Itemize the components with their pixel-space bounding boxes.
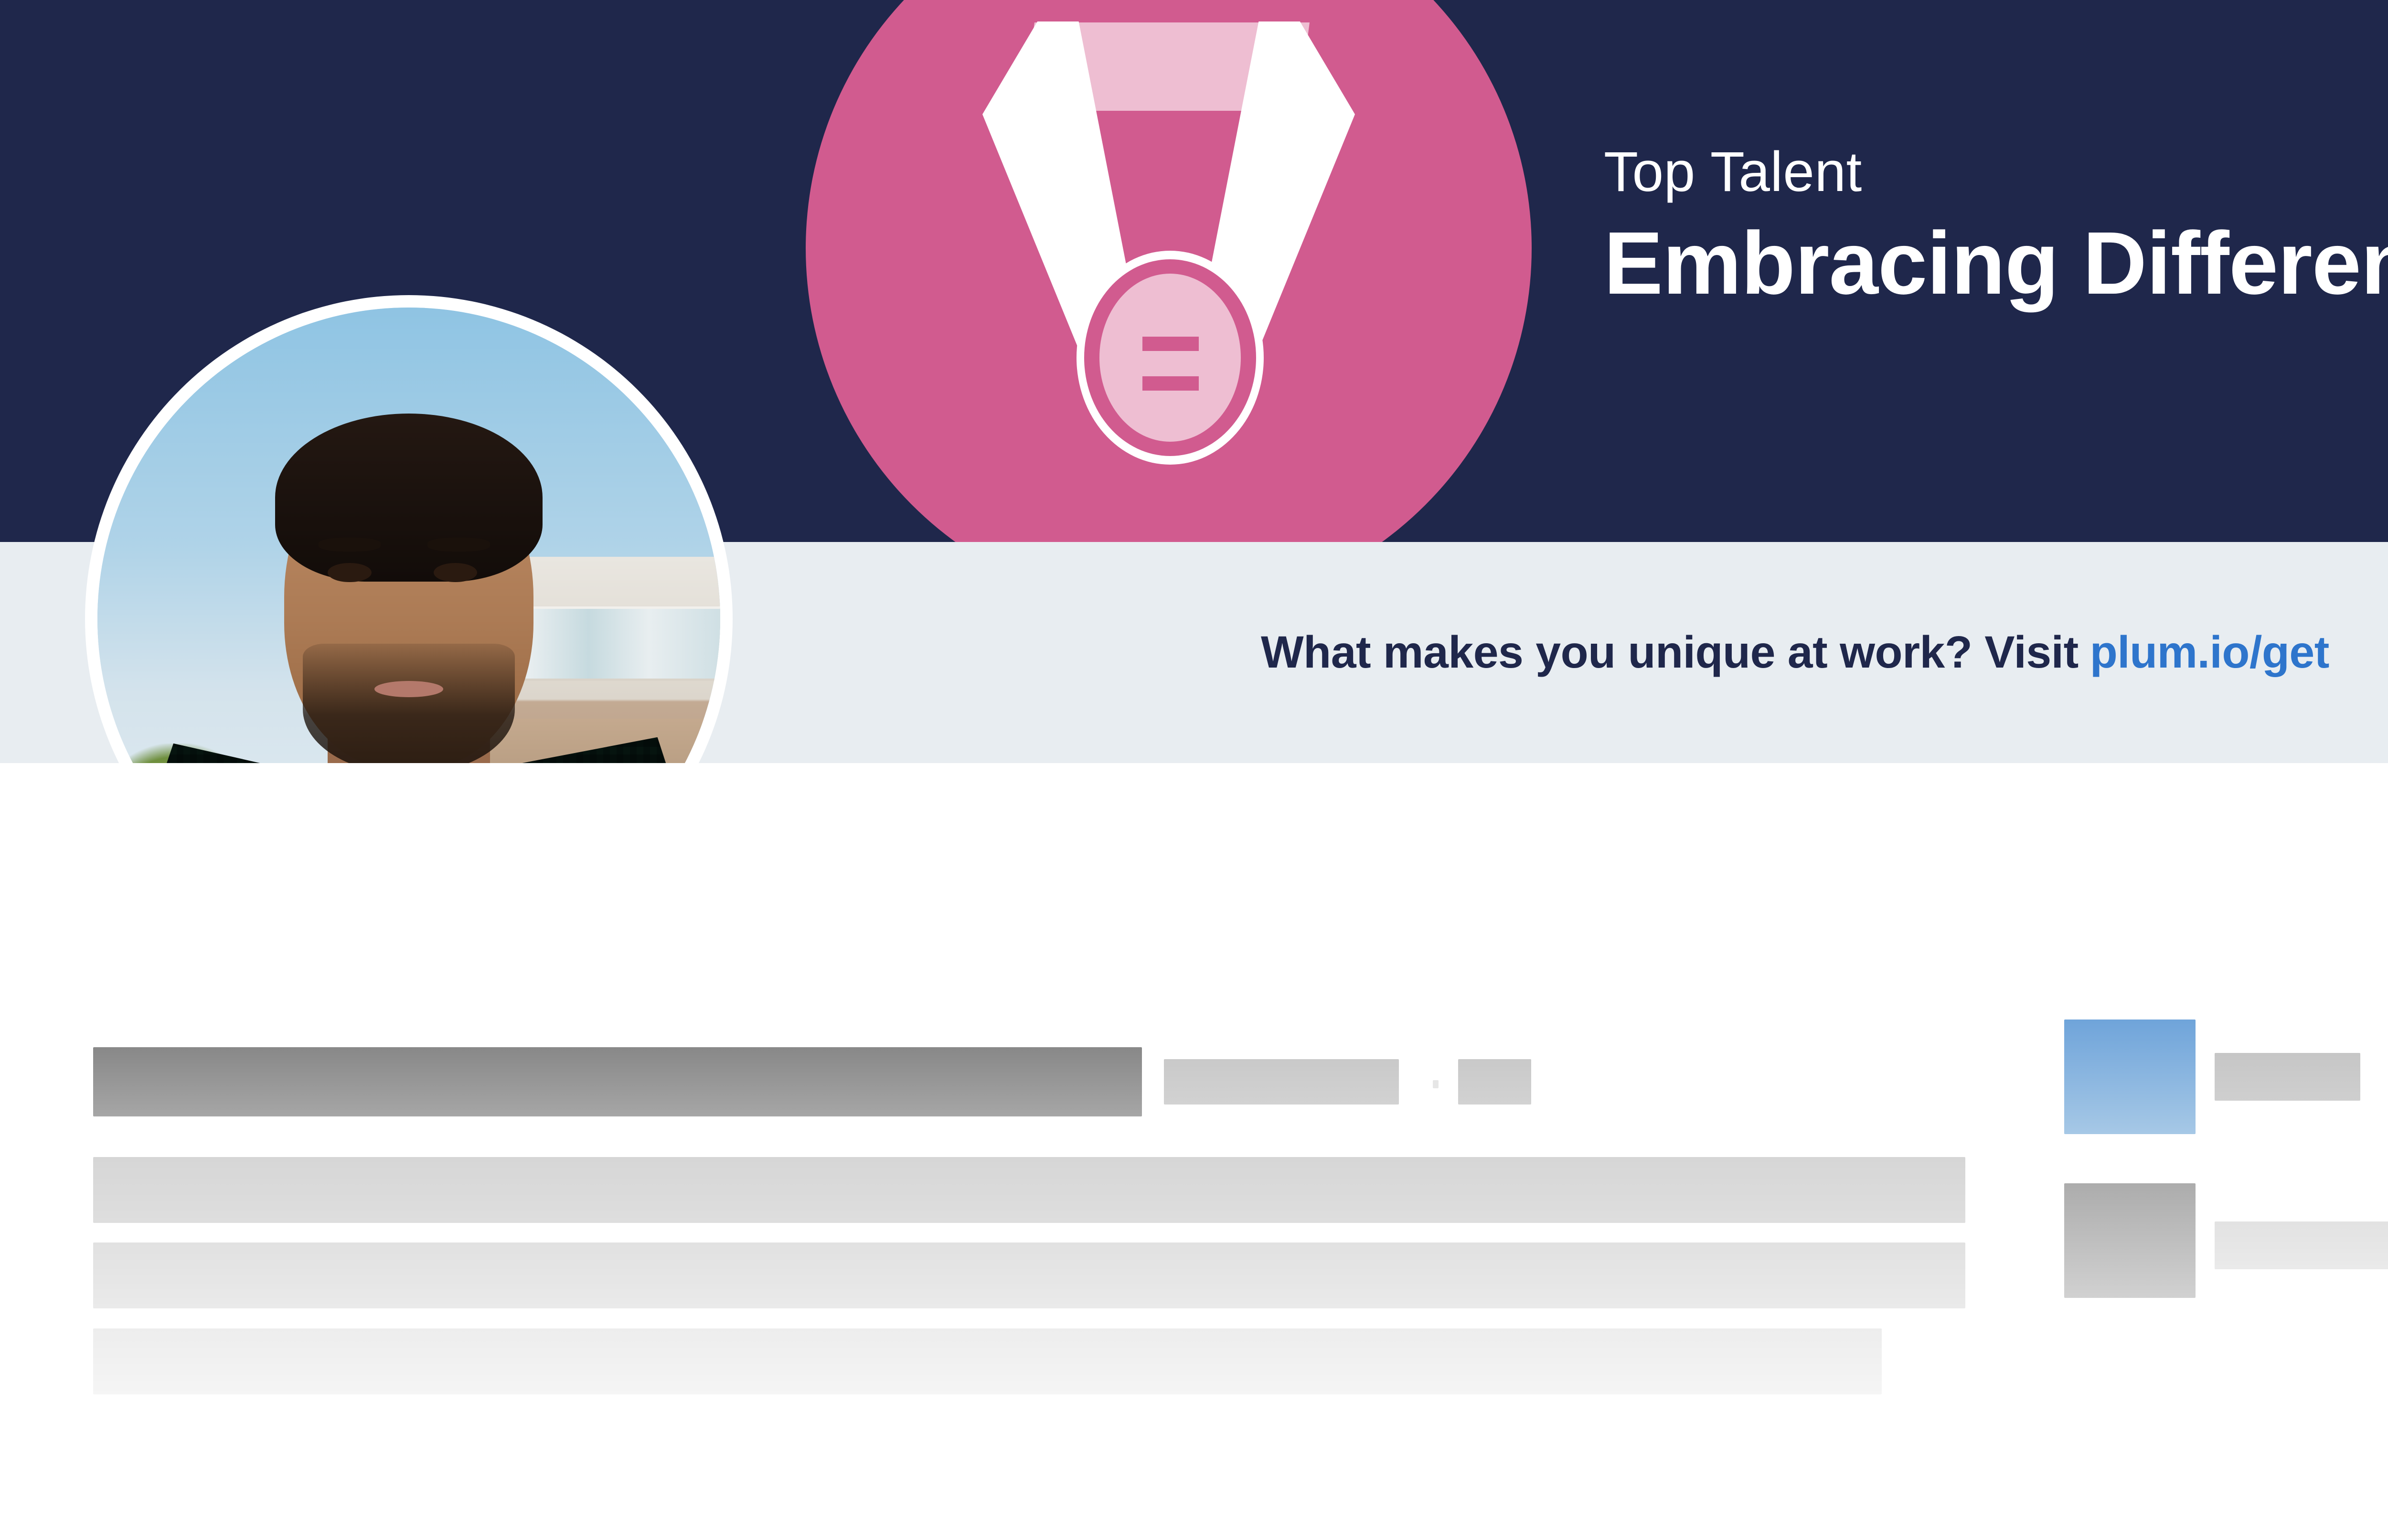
- skeleton-line-2: [93, 1243, 1965, 1308]
- skeleton-chip-a: [1164, 1059, 1399, 1105]
- skeleton-chip-b: [1458, 1059, 1531, 1105]
- header-headline: Embracing Differences: [1604, 217, 2388, 310]
- photo-eyebrow-right: [427, 538, 490, 552]
- skeleton-card-square-blue: [2064, 1020, 2196, 1134]
- medal-face-icon: [1099, 274, 1241, 442]
- medal-equality-icon: [806, 0, 1532, 542]
- skeleton-line-1: [93, 1157, 1965, 1223]
- skeleton-title-bar: [93, 1047, 1142, 1116]
- page-root: Top Talent Embracing Differences What ma…: [0, 0, 2388, 1540]
- skeleton-card-square-gray: [2064, 1183, 2196, 1298]
- photo-lips: [374, 681, 443, 697]
- skeleton-line-3: [93, 1328, 1882, 1394]
- photo-eye-left: [328, 563, 371, 582]
- skeleton-card-bar-1: [2215, 1053, 2360, 1101]
- promo-content: What makes you unique at work? Visit plu…: [1261, 542, 2388, 763]
- photo-eyebrow-left: [319, 538, 381, 552]
- promo-link[interactable]: plum.io/get: [2090, 627, 2329, 679]
- promo-question: What makes you unique at work? Visit: [1261, 627, 2079, 679]
- skeleton-card-bar-2: [2215, 1221, 2388, 1269]
- medal-equals-bar-top-icon: [1142, 337, 1199, 351]
- medal-equals-bar-bottom-icon: [1142, 376, 1199, 391]
- skeleton-dot: [1433, 1080, 1439, 1088]
- header-text-group: Top Talent Embracing Differences: [1604, 143, 2388, 310]
- content-area: [0, 763, 2388, 1540]
- photo-beard: [303, 644, 514, 775]
- header-eyebrow: Top Talent: [1604, 143, 2388, 201]
- photo-hair: [275, 414, 543, 582]
- photo-eye-right: [434, 563, 477, 582]
